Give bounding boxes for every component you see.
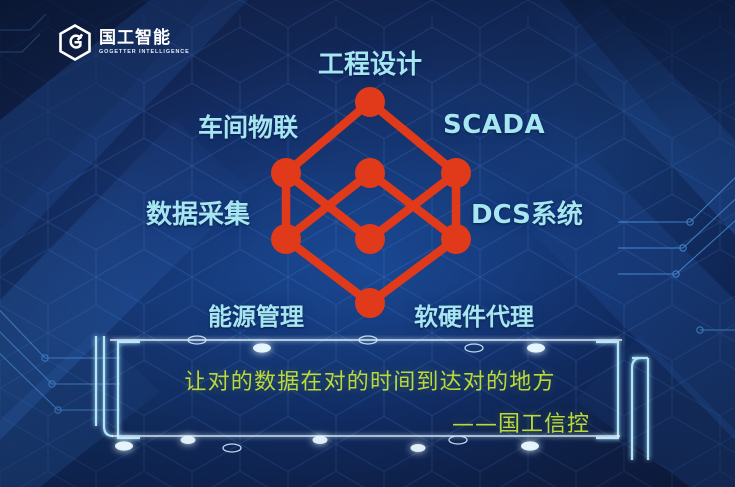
node-top <box>355 87 385 117</box>
node-middle-right <box>441 158 471 188</box>
node-middle-left <box>271 158 301 188</box>
diagram-label-dcs-system: DCS系统 <box>471 194 583 231</box>
node-lower-left <box>271 224 301 254</box>
node-middle-center <box>355 158 385 188</box>
node-bottom <box>355 288 385 318</box>
slide-canvas: 国工智能 GOGETTER INTELLIGENCE <box>0 0 735 487</box>
diagram-label-scada: SCADA <box>443 110 545 140</box>
tagline-main-text: 让对的数据在对的时间到达对的地方 <box>150 364 590 396</box>
diagram-label-engineering-design: 工程设计 <box>318 44 422 81</box>
tagline-block: 让对的数据在对的时间到达对的地方 ——国工信控 <box>150 364 590 438</box>
diagram-label-data-acquisition: 数据采集 <box>146 194 250 231</box>
network-nodes <box>271 87 471 318</box>
diagram-label-workshop-iot: 车间物联 <box>198 108 298 144</box>
node-lower-center <box>355 224 385 254</box>
tagline-attribution: ——国工信控 <box>150 406 590 438</box>
node-lower-right <box>441 224 471 254</box>
